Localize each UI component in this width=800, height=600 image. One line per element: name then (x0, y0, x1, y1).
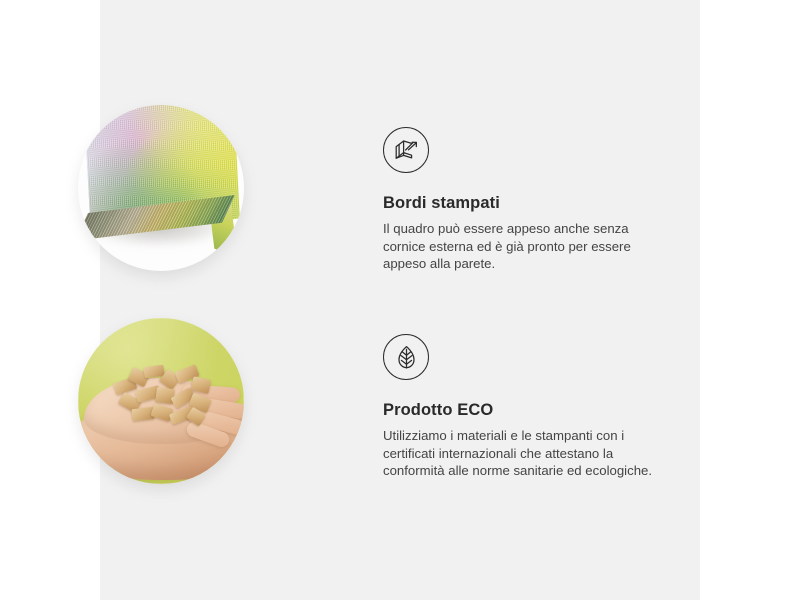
feature-description: Utilizziamo i materiali e le stampanti c… (383, 427, 675, 480)
hands-holding-wood-chips-photo (78, 318, 244, 484)
leaf-icon (383, 334, 429, 380)
canvas-fold-arrow-icon (383, 127, 429, 173)
feature-copy-printed-edges: Bordi stampati Il quadro può essere appe… (383, 127, 661, 273)
feature-description: Il quadro può essere appeso anche senza … (383, 220, 661, 273)
feature-title: Prodotto ECO (383, 401, 675, 420)
product-info-graphic: Bordi stampati Il quadro può essere appe… (0, 0, 800, 600)
feature-copy-eco-product: Prodotto ECO Utilizziamo i materiali e l… (383, 334, 675, 480)
canvas-corner-illustration (90, 105, 244, 261)
canvas-corner-photo (78, 105, 244, 271)
feature-title: Bordi stampati (383, 194, 661, 213)
wood-chips (110, 366, 222, 428)
content-panel (100, 0, 700, 600)
